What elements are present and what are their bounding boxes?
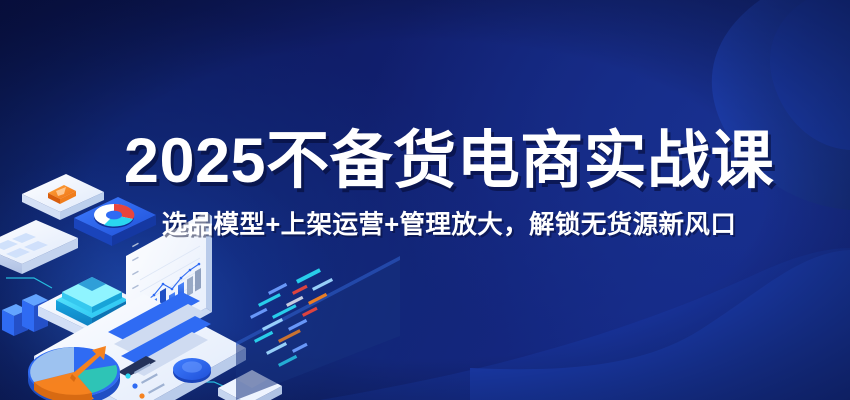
word-cloud-panel (236, 256, 400, 400)
course-promo-banner: 2025不备货电商实战课 选品模型+上架运营+管理放大，解锁无货源新风口 (0, 0, 850, 400)
title-block: 2025不备货电商实战课 选品模型+上架运营+管理放大，解锁无货源新风口 (0, 130, 850, 239)
page-subtitle: 选品模型+上架运营+管理放大，解锁无货源新风口 (48, 213, 850, 239)
round-button (173, 358, 211, 383)
page-title: 2025不备货电商实战课 (48, 130, 850, 193)
